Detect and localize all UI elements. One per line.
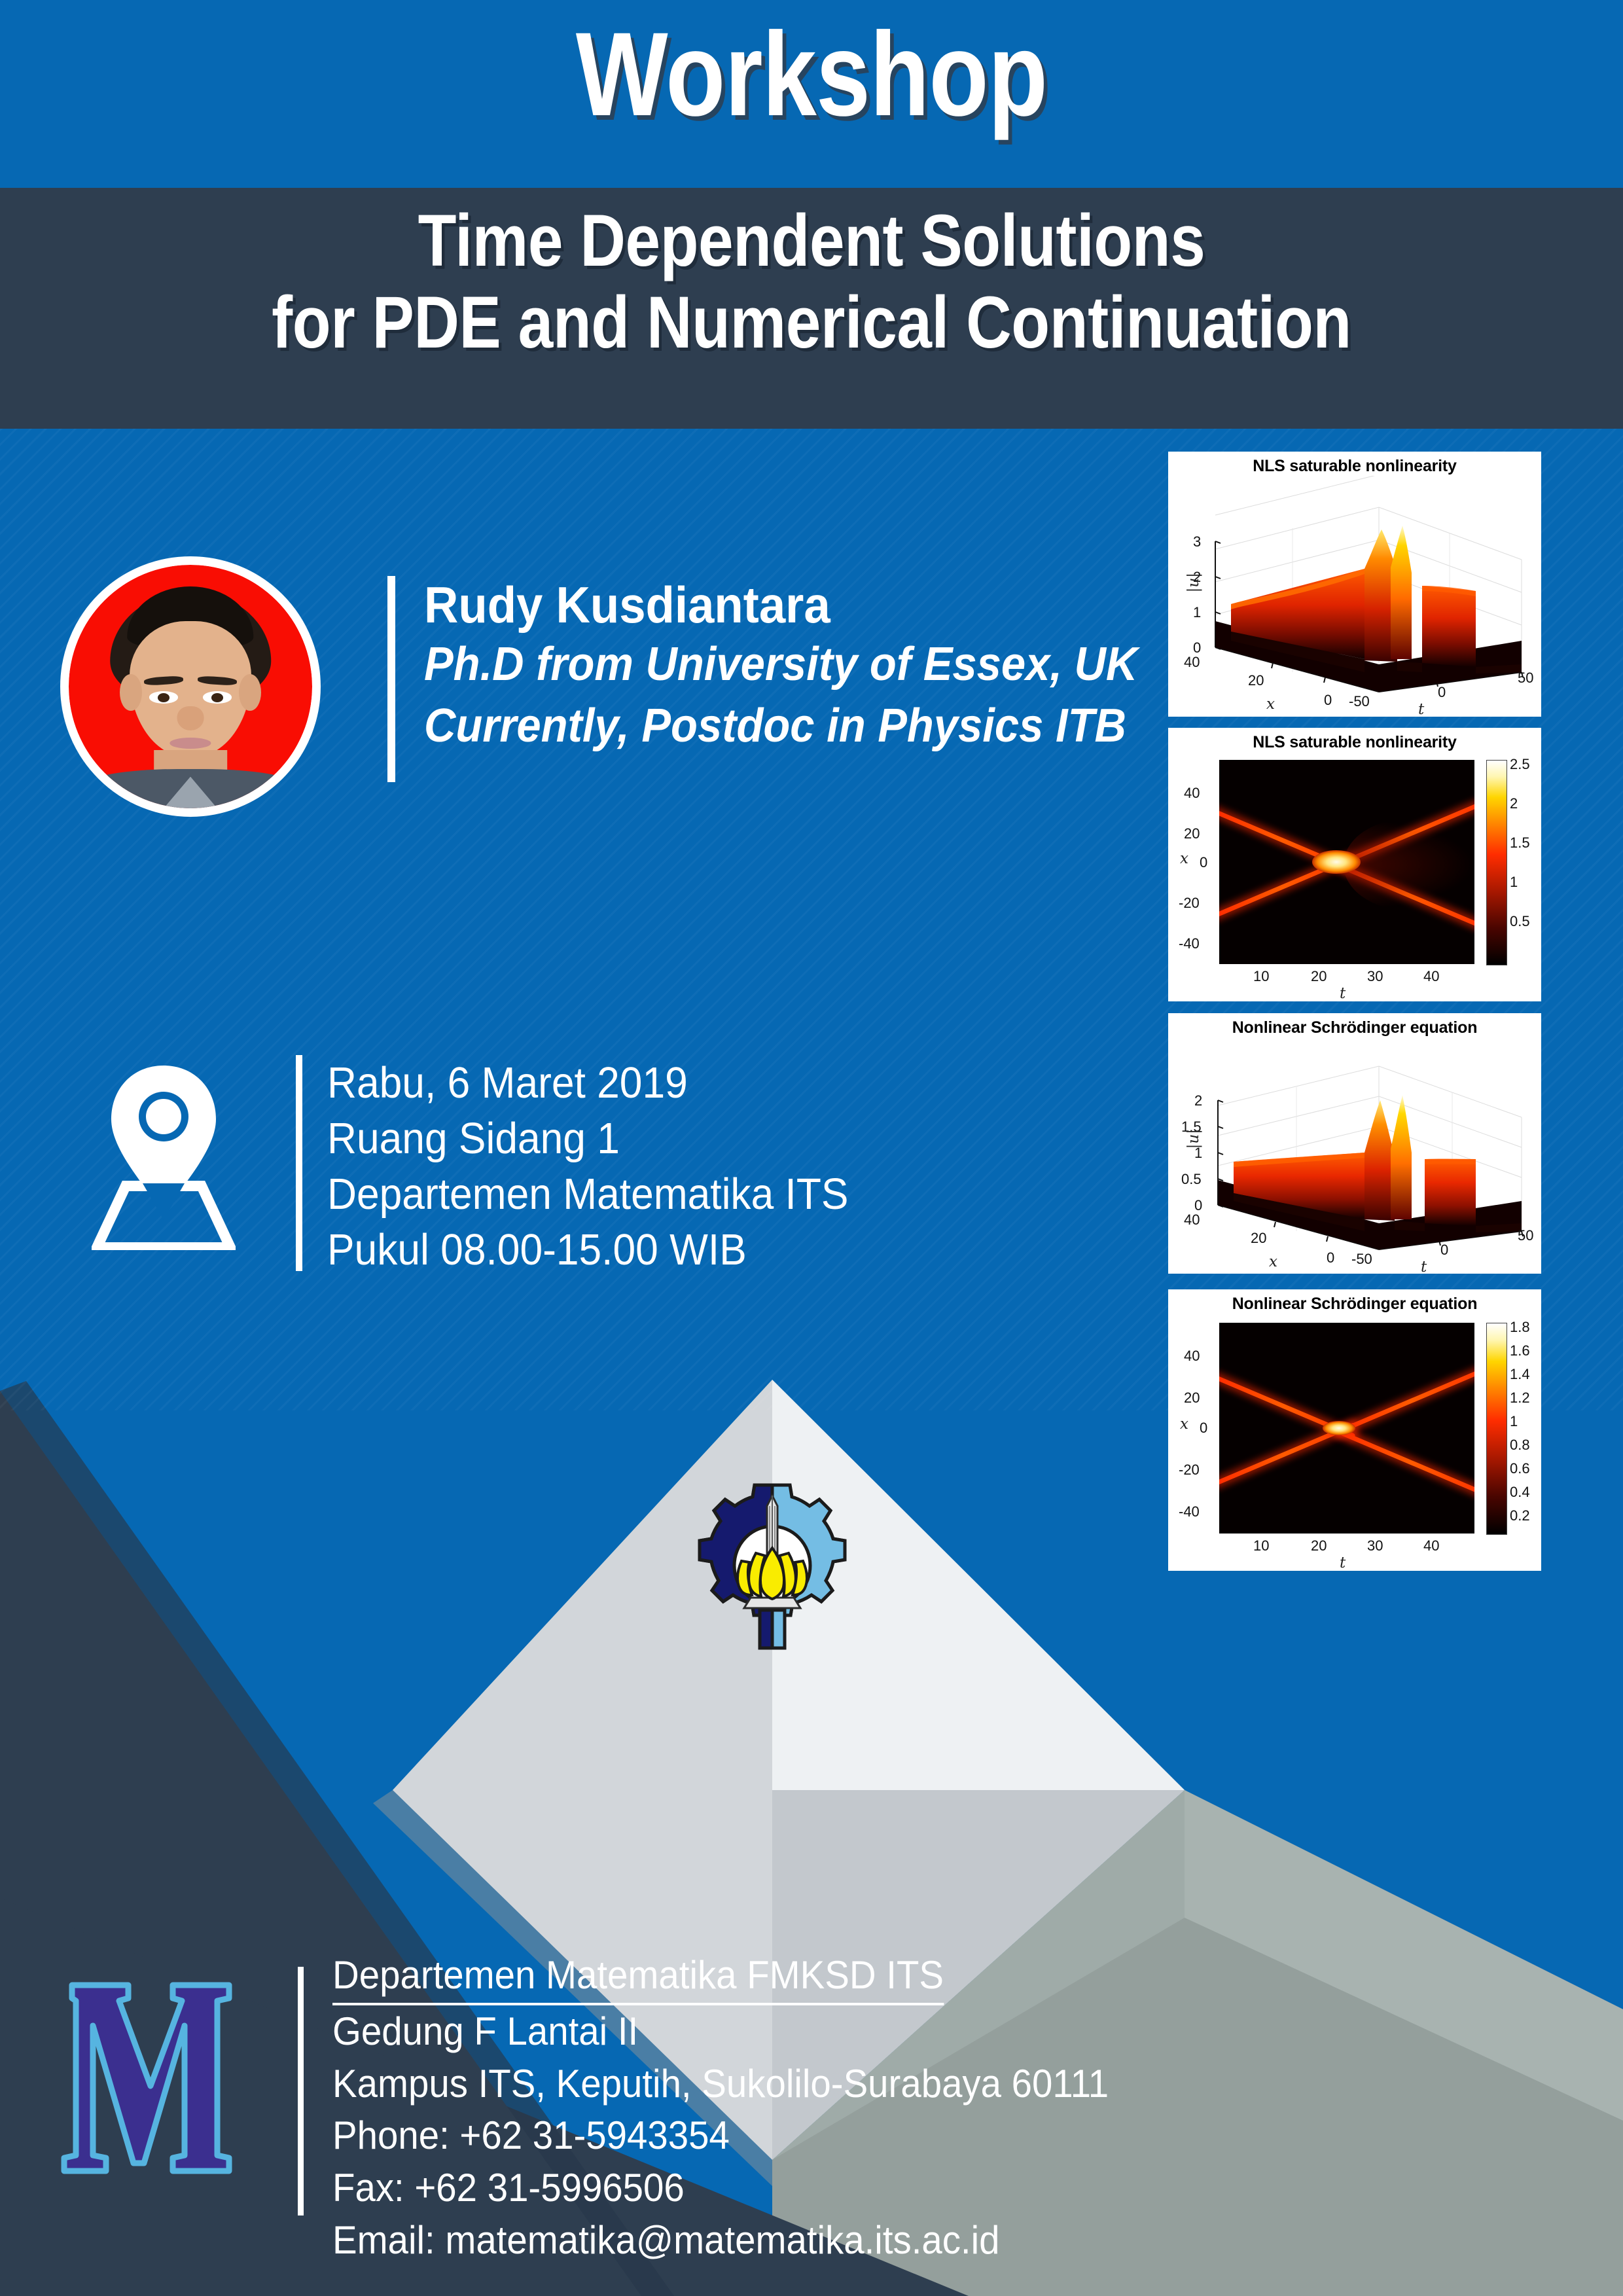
chart3-xtick-0: 0	[1327, 1249, 1334, 1266]
footer-line-email: Email: matematika@matematika.its.ac.id	[332, 2214, 1109, 2267]
heatmap-4-field	[1219, 1323, 1474, 1534]
chart4-cbtick-0p6: 0.6	[1510, 1460, 1530, 1477]
chart2-xtick-30: 30	[1367, 968, 1383, 985]
chart3-ylabel: t	[1421, 1259, 1427, 1276]
chart4-xtick-30: 30	[1367, 1537, 1383, 1554]
portrait-mouth	[169, 738, 211, 749]
math-department-m-logo	[46, 1947, 255, 2209]
venue-line-date: Rabu, 6 Maret 2019	[327, 1055, 849, 1111]
chart1-xtick-20: 20	[1248, 672, 1264, 689]
chart3-ytick-0: 0	[1440, 1242, 1448, 1259]
chart3-ytick-neg50: -50	[1351, 1251, 1372, 1268]
chart2-cbtick-1: 1	[1510, 874, 1518, 891]
chart-panel-heatmap-nls-equation: Nonlinear Schrödinger equation 40 20 0 -…	[1168, 1289, 1541, 1571]
chart2-ytick-neg20: -20	[1179, 895, 1200, 912]
page-title-line-1: Time Dependent Solutions	[114, 200, 1510, 281]
chart4-cbtick-1p6: 1.6	[1510, 1342, 1530, 1359]
chart4-ytick-neg20: -20	[1179, 1462, 1200, 1479]
speaker-affiliation-line-1: Ph.D from University of Essex, UK	[424, 634, 1094, 696]
chart3-ytick-50: 50	[1518, 1227, 1533, 1244]
chart4-xtick-40: 40	[1423, 1537, 1439, 1554]
chart-panel-surface-nls-equation: Nonlinear Schrödinger equation	[1168, 1013, 1541, 1274]
chart-plot-area-4: 40 20 0 -20 -40 10 20 30 40 1.8 1.6 1.4 …	[1168, 1314, 1541, 1573]
chart1-ytick-0: 0	[1438, 684, 1446, 701]
chart4-cbtick-1p4: 1.4	[1510, 1366, 1530, 1383]
chart4-ylabel: x	[1180, 1416, 1188, 1433]
venue-line-department: Departemen Matematika ITS	[327, 1166, 849, 1222]
chart3-xlabel: x	[1269, 1253, 1277, 1270]
footer-line-phone: Phone: +62 31-5943354	[332, 2109, 1109, 2162]
page-title-line-2: for PDE and Numerical Continuation	[114, 281, 1510, 363]
colorbar-4	[1486, 1323, 1507, 1535]
chart4-cbtick-1: 1	[1510, 1413, 1518, 1430]
footer-line-building: Gedung F Lantai II	[332, 2005, 1109, 2058]
chart2-cbtick-2: 2	[1510, 795, 1518, 812]
chart4-ytick-neg40: -40	[1179, 1503, 1200, 1520]
chart2-ytick-40: 40	[1184, 785, 1200, 802]
chart2-cbtick-1p5: 1.5	[1510, 834, 1530, 852]
venue-line-room: Ruang Sidang 1	[327, 1111, 849, 1166]
chart2-xlabel: t	[1340, 985, 1346, 1002]
chart4-cbtick-0p4: 0.4	[1510, 1484, 1530, 1501]
radiation-halo-2	[1344, 819, 1474, 910]
chart4-cbtick-0p8: 0.8	[1510, 1437, 1530, 1454]
chart4-cbtick-0p2: 0.2	[1510, 1507, 1530, 1524]
portrait-pupil-left	[158, 693, 170, 702]
chart-panel-heatmap-nls-saturable: NLS saturable nonlinearity 40 20 0 -20 -…	[1168, 728, 1541, 1001]
chart-title-3: Nonlinear Schrödinger equation	[1168, 1013, 1541, 1037]
beam-out-upper-4	[1336, 1368, 1474, 1435]
chart4-xtick-10: 10	[1253, 1537, 1269, 1554]
collision-core-4	[1323, 1421, 1355, 1435]
chart2-ytick-0: 0	[1200, 854, 1207, 871]
chart-plot-area-1: 3 2 1 0 40 20 0 -50 0 50 |u| x t	[1168, 476, 1541, 719]
chart1-ytick-neg50: -50	[1349, 693, 1370, 710]
chart3-xtick-40: 40	[1184, 1211, 1200, 1229]
chart2-xtick-40: 40	[1423, 968, 1439, 985]
speaker-affiliation-line-2: Currently, Postdoc in Physics ITB	[424, 696, 1094, 757]
heatmap-2-field	[1219, 760, 1474, 964]
chart1-xlabel: x	[1266, 696, 1275, 713]
surface-axes-3	[1168, 1037, 1541, 1276]
chart4-ytick-40: 40	[1184, 1348, 1200, 1365]
speaker-info: Rudy Kusdiantara Ph.D from University of…	[424, 576, 1144, 757]
chart4-ytick-0: 0	[1200, 1420, 1207, 1437]
chart2-ytick-20: 20	[1184, 825, 1200, 842]
chart1-xtick-0: 0	[1324, 692, 1332, 709]
chart3-zlabel: |u|	[1185, 1129, 1202, 1149]
chart2-ytick-neg40: -40	[1179, 935, 1200, 952]
venue-divider-rule	[296, 1055, 302, 1271]
chart4-xtick-20: 20	[1311, 1537, 1327, 1554]
page-title: Time Dependent Solutions for PDE and Num…	[114, 200, 1510, 364]
chart4-xlabel: t	[1340, 1554, 1346, 1571]
workshop-poster: Workshop Time Dependent Solutions for PD…	[0, 0, 1623, 2296]
chart1-ytick-50: 50	[1518, 670, 1533, 687]
portrait-face	[130, 621, 251, 757]
chart2-cbtick-2p5: 2.5	[1510, 756, 1530, 773]
chart2-ylabel: x	[1180, 850, 1188, 867]
portrait-ear-left	[120, 674, 141, 711]
chart3-xtick-20: 20	[1251, 1230, 1266, 1247]
surface-axes-1	[1168, 476, 1541, 719]
beam-out-lower-4	[1336, 1429, 1474, 1496]
chart4-ytick-20: 20	[1184, 1390, 1200, 1407]
portrait-ear-right	[239, 674, 260, 711]
chart3-ztick-0p5: 0.5	[1181, 1171, 1202, 1188]
colorbar-2	[1486, 760, 1507, 965]
portrait-pupil-right	[211, 693, 224, 702]
portrait-nose	[177, 706, 204, 730]
footer-heading: Departemen Matematika FMKSD ITS	[332, 1950, 944, 2005]
chart4-cbtick-1p2: 1.2	[1510, 1390, 1530, 1407]
venue-info: Rabu, 6 Maret 2019 Ruang Sidang 1 Depart…	[327, 1055, 887, 1278]
chart1-xtick-40: 40	[1184, 654, 1200, 671]
chart1-ylabel: t	[1418, 701, 1424, 718]
chart-plot-area-2: 40 20 0 -20 -40 10 20 30 40 2.5 2 1.5 1 …	[1168, 752, 1541, 1004]
chart4-cbtick-1p8: 1.8	[1510, 1319, 1530, 1336]
speaker-portrait	[69, 565, 312, 808]
chart-title-2: NLS saturable nonlinearity	[1168, 728, 1541, 752]
its-gear-lotus-logo	[690, 1476, 854, 1656]
chart1-ztick-3: 3	[1193, 533, 1201, 550]
collision-core-2	[1312, 850, 1361, 874]
footer-contact-info: Departemen Matematika FMKSD ITS Gedung F…	[332, 1950, 1158, 2267]
chart2-cbtick-0p5: 0.5	[1510, 913, 1530, 930]
chart-plot-area-3: 2 1.5 1 0.5 0 40 20 0 -50 0 50 |u| x t	[1168, 1037, 1541, 1276]
footer-line-fax: Fax: +62 31-5996506	[332, 2162, 1109, 2214]
chart-title-4: Nonlinear Schrödinger equation	[1168, 1289, 1541, 1314]
venue-line-time: Pukul 08.00-15.00 WIB	[327, 1222, 849, 1278]
map-pin-icon	[92, 1060, 236, 1250]
chart-panel-surface-nls-saturable: NLS saturable nonlinearity	[1168, 452, 1541, 717]
speaker-name: Rudy Kusdiantara	[424, 576, 1094, 634]
chart1-ztick-1: 1	[1193, 604, 1201, 621]
speaker-divider-rule	[387, 576, 395, 782]
footer-line-address: Kampus ITS, Keputih, Sukolilo-Surabaya 6…	[332, 2058, 1109, 2110]
chart-title-1: NLS saturable nonlinearity	[1168, 452, 1541, 476]
chart3-ztick-2: 2	[1194, 1092, 1202, 1109]
footer-divider-rule	[298, 1967, 304, 2215]
avatar	[60, 556, 321, 817]
page-kicker: Workshop	[146, 14, 1477, 134]
chart1-zlabel: |u|	[1185, 573, 1202, 592]
chart2-xtick-10: 10	[1253, 968, 1269, 985]
chart2-xtick-20: 20	[1311, 968, 1327, 985]
